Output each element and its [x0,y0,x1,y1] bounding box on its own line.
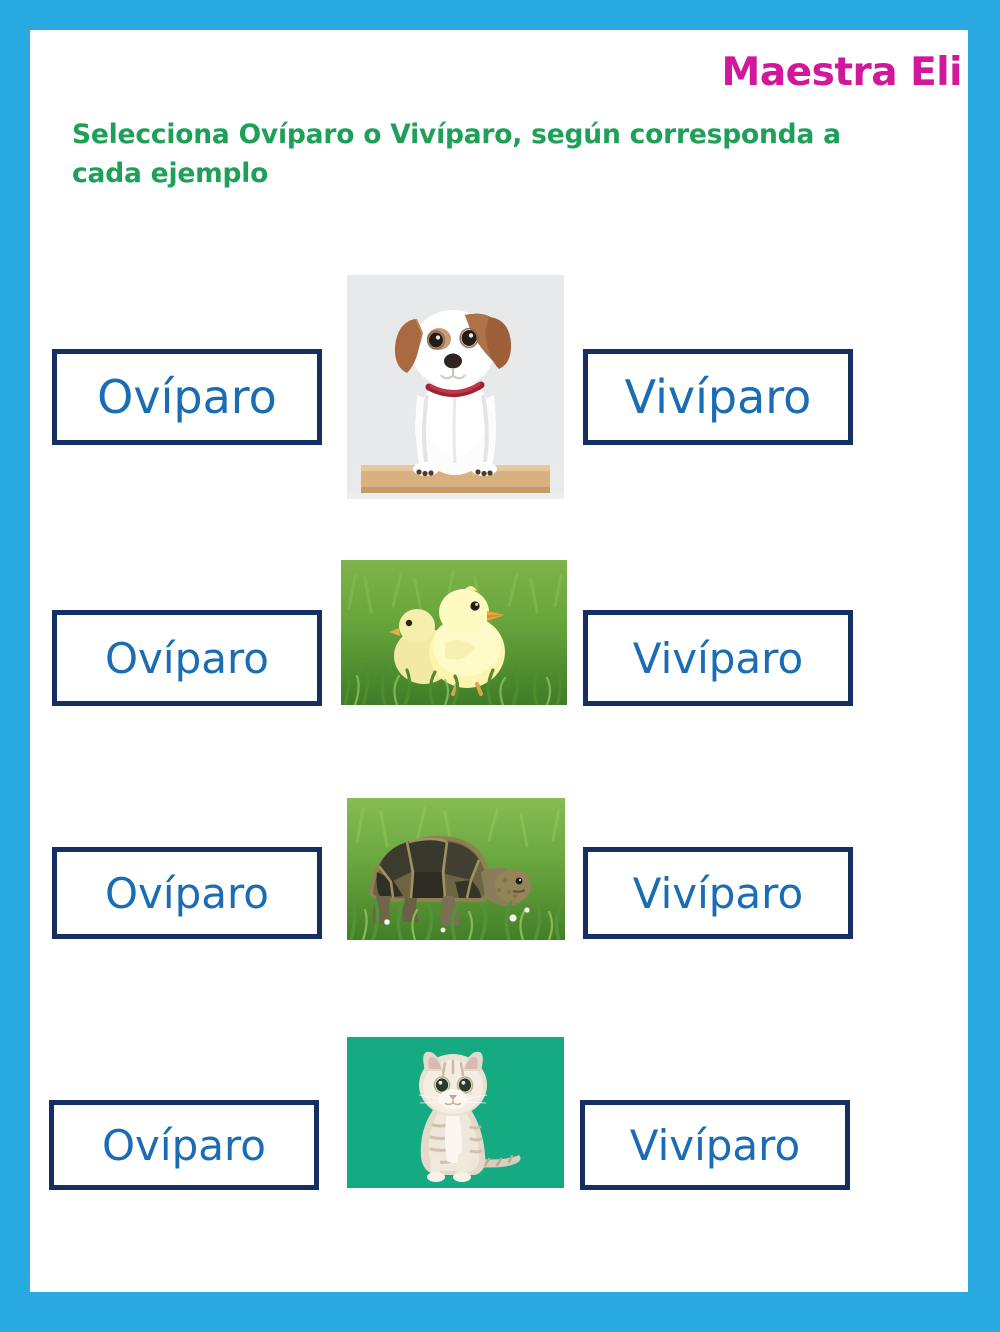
question-list: Ovíparo [30,30,968,1292]
option-oviparo-row-4[interactable]: Ovíparo [49,1100,319,1190]
kitten-photo [347,1037,564,1188]
option-oviparo-row-3[interactable]: Ovíparo [52,847,322,939]
option-oviparo-row-1[interactable]: Ovíparo [52,349,322,445]
option-viviparo-row-2[interactable]: Vivíparo [583,610,853,706]
worksheet-sheet: Maestra Eli Selecciona Ovíparo o Vivípar… [30,30,968,1292]
question-row-2: Ovíparo [30,525,968,775]
question-row-4: Ovíparo [30,1020,968,1270]
option-viviparo-row-1[interactable]: Vivíparo [583,349,853,445]
tortoise-photo [347,798,565,940]
puppy-photo [347,275,564,499]
option-viviparo-row-4[interactable]: Vivíparo [580,1100,850,1190]
worksheet-page: Maestra Eli Selecciona Ovíparo o Vivípar… [0,0,1000,1332]
option-viviparo-row-3[interactable]: Vivíparo [583,847,853,939]
option-oviparo-row-2[interactable]: Ovíparo [52,610,322,706]
question-row-3: Ovíparo [30,770,968,1020]
chick-photo [341,560,567,705]
question-row-1: Ovíparo [30,253,968,503]
